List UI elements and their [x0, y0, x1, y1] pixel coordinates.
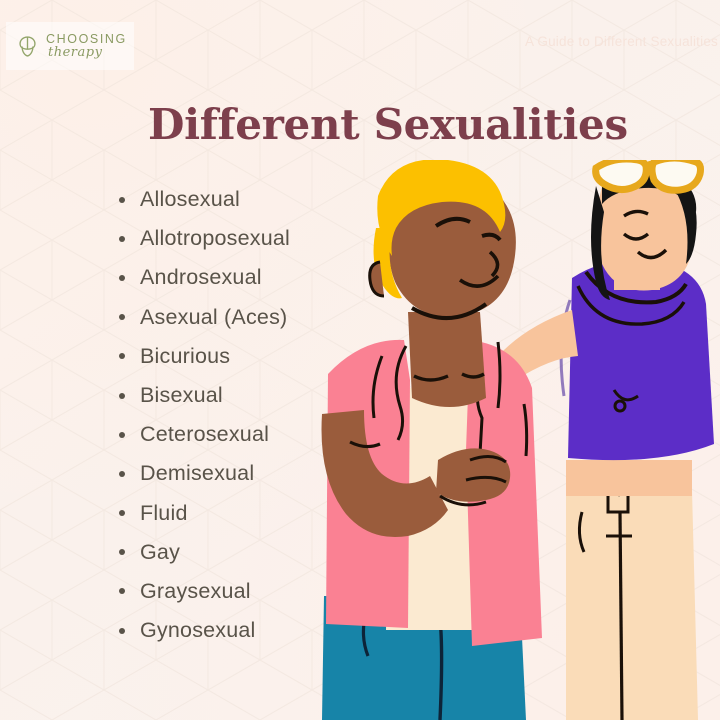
logo-top-word: CHOOSING: [46, 33, 127, 46]
list-item: Bicurious: [112, 337, 290, 376]
poster-canvas: CHOOSING therapy A Guide to Different Se…: [0, 0, 720, 720]
logo-bottom-word: therapy: [48, 46, 127, 59]
list-item: Gay: [112, 533, 290, 572]
two-people-illustration: [320, 160, 720, 720]
list-item: Graysexual: [112, 572, 290, 611]
page-title: Different Sexualities: [148, 100, 628, 149]
logo-wordmark: CHOOSING therapy: [46, 33, 127, 60]
list-item: Bisexual: [112, 376, 290, 415]
list-item: Allosexual: [112, 180, 290, 219]
logo[interactable]: CHOOSING therapy: [6, 22, 134, 70]
person-blonde-pink-shirt: [322, 160, 543, 720]
leaf-icon: [14, 33, 41, 60]
list-item: Fluid: [112, 494, 290, 533]
sexualities-list: AllosexualAllotroposexualAndrosexualAsex…: [112, 180, 290, 650]
list-item: Demisexual: [112, 454, 290, 493]
list-item: Gynosexual: [112, 611, 290, 650]
list-item: Asexual (Aces): [112, 298, 290, 337]
header-kicker: A Guide to Different Sexualities: [525, 34, 718, 49]
list-item: Androsexual: [112, 258, 290, 297]
list-item: Allotroposexual: [112, 219, 290, 258]
list-item: Ceterosexual: [112, 415, 290, 454]
